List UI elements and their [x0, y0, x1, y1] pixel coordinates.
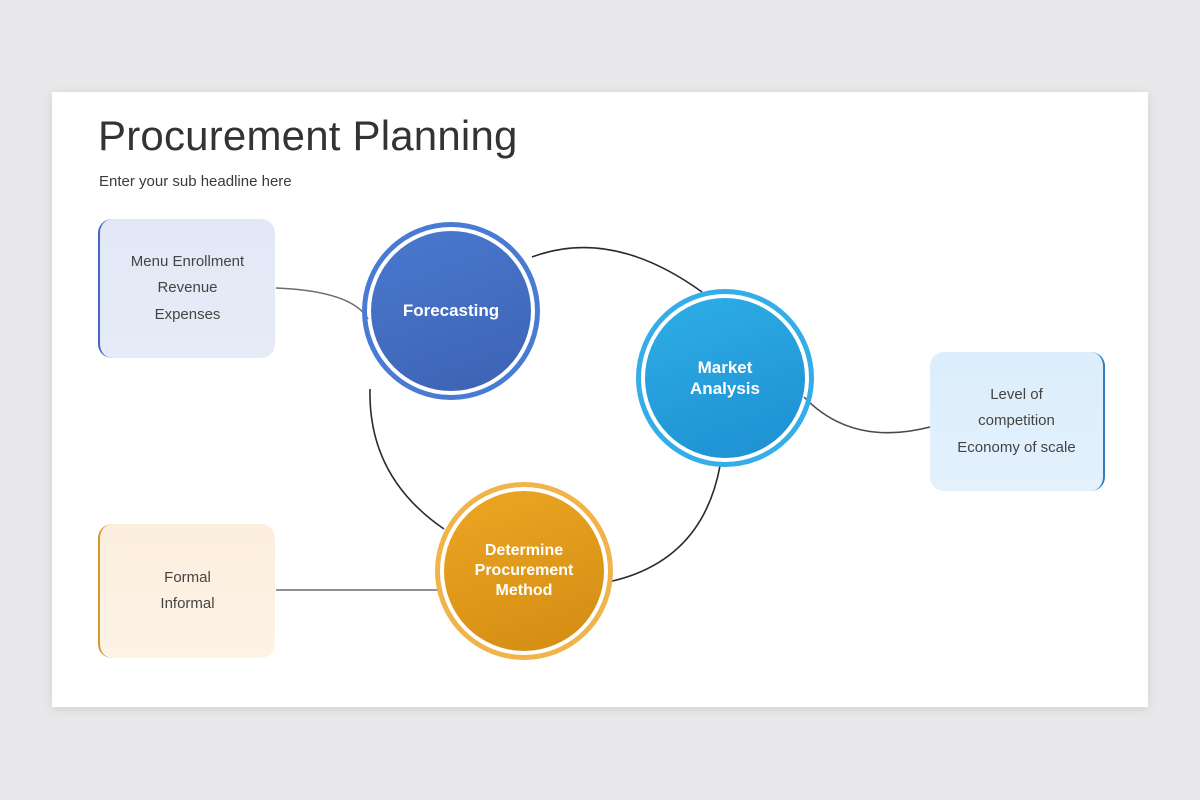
node-determine-procurement-method[interactable]: Determine Procurement Method	[435, 482, 613, 660]
info-box-factors-line-3: Economy of scale	[957, 435, 1075, 461]
info-box-inputs-line-2: Revenue	[157, 275, 217, 301]
node-market-analysis[interactable]: Market Analysis	[636, 289, 814, 467]
page-subtitle: Enter your sub headline here	[99, 173, 292, 190]
info-box-methods[interactable]: Formal Informal	[98, 524, 275, 658]
slide-canvas: Procurement Planning Enter your sub head…	[52, 92, 1148, 707]
info-box-factors-line-1: Level of	[990, 382, 1043, 408]
info-box-factors-line-2: competition	[978, 408, 1055, 434]
info-box-inputs-line-1: Menu Enrollment	[131, 249, 244, 275]
info-box-inputs-line-3: Expenses	[155, 302, 221, 328]
node-determine-procurement-method-label-line-2: Procurement	[475, 562, 574, 579]
info-box-methods-line-2: Informal	[160, 591, 214, 617]
node-determine-procurement-method-label-line-3: Method	[496, 582, 553, 599]
node-market-analysis-label-line-2: Analysis	[690, 379, 760, 398]
node-forecasting-label: Forecasting	[403, 300, 499, 321]
info-box-methods-line-1: Formal	[164, 565, 211, 591]
node-market-analysis-label: Market Analysis	[690, 357, 760, 400]
leader-inputs-to-forecasting	[276, 288, 368, 319]
node-determine-procurement-method-label-line-1: Determine	[485, 542, 563, 559]
node-forecasting-core: Forecasting	[371, 231, 531, 391]
page-title: Procurement Planning	[98, 112, 518, 160]
node-determine-procurement-method-label: Determine Procurement Method	[475, 541, 574, 601]
node-market-analysis-label-line-1: Market	[698, 358, 753, 377]
arc-procurement-to-forecasting	[370, 389, 444, 529]
info-box-inputs[interactable]: Menu Enrollment Revenue Expenses	[98, 219, 275, 358]
node-determine-procurement-method-core: Determine Procurement Method	[444, 491, 604, 651]
node-forecasting[interactable]: Forecasting	[362, 222, 540, 400]
info-box-factors[interactable]: Level of competition Economy of scale	[930, 352, 1105, 491]
leader-market-to-factors	[804, 397, 930, 433]
arc-forecasting-to-market	[532, 248, 702, 292]
arc-market-to-procurement	[608, 466, 720, 582]
node-market-analysis-core: Market Analysis	[645, 298, 805, 458]
